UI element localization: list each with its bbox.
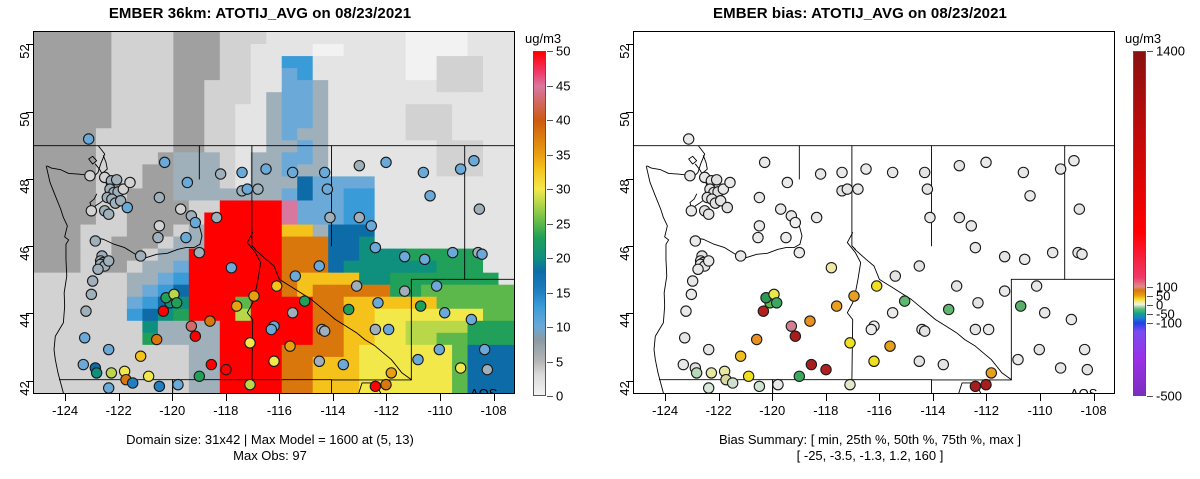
x-tick-label: -118	[213, 403, 238, 418]
grid-cell	[49, 44, 65, 57]
y-tick-label: 50	[617, 112, 632, 126]
monitor-site-marker	[706, 368, 716, 378]
grid-cell	[468, 369, 484, 382]
grid-cell	[452, 128, 468, 141]
monitor-site-marker	[885, 341, 895, 351]
grid-cell	[452, 92, 468, 105]
grid-cell	[266, 92, 282, 105]
grid-cell	[390, 188, 406, 201]
grid-cell	[390, 200, 406, 213]
grid-cell	[220, 56, 236, 69]
monitor-site-marker	[890, 271, 900, 281]
x-tick-label: -120	[759, 403, 785, 418]
grid-cell	[220, 140, 236, 153]
grid-cell	[375, 213, 391, 226]
grid-cell	[483, 225, 499, 238]
grid-cell	[80, 104, 96, 117]
grid-cell	[173, 32, 189, 45]
grid-cell	[204, 32, 220, 45]
grid-cell	[127, 44, 143, 57]
grid-cell	[499, 200, 514, 213]
monitor-site-marker	[704, 344, 714, 354]
monitor-site-marker	[735, 351, 745, 361]
grid-cell	[127, 273, 143, 286]
grid-cell	[158, 116, 174, 129]
grid-cell	[204, 345, 220, 358]
grid-cell	[390, 44, 406, 57]
grid-cell	[313, 309, 329, 322]
monitor-site-marker	[951, 281, 961, 291]
grid-cell	[235, 68, 251, 81]
x-tick	[933, 394, 934, 401]
aqs-legend-label-left: AQS	[470, 386, 497, 394]
grid-cell	[359, 44, 375, 57]
monitor-site-marker	[1066, 314, 1076, 324]
grid-cell	[421, 44, 437, 57]
colorbar-tick	[1147, 287, 1153, 288]
grid-cell	[80, 68, 96, 81]
grid-cell	[468, 68, 484, 81]
aqs-legend-label-right: AQS	[1070, 386, 1097, 394]
monitor-site-marker	[373, 298, 383, 308]
grid-cell	[49, 297, 65, 310]
grid-cell	[127, 333, 143, 346]
grid-cell	[127, 128, 143, 141]
grid-cell	[173, 309, 189, 322]
grid-cell	[359, 128, 375, 141]
monitor-site-marker	[135, 251, 145, 261]
colorbar-tick	[1147, 396, 1153, 397]
monitor-site-marker	[182, 177, 192, 187]
grid-cell	[390, 237, 406, 250]
monitor-site-marker	[966, 221, 976, 231]
grid-cell	[452, 140, 468, 153]
monitor-site-marker	[754, 221, 764, 231]
grid-cell	[173, 80, 189, 93]
y-tick-label: 44	[17, 314, 32, 328]
grid-cell	[142, 128, 158, 141]
grid-cell	[204, 285, 220, 298]
grid-cell	[49, 345, 65, 358]
grid-cell	[375, 44, 391, 57]
monitor-site-marker	[837, 167, 847, 177]
grid-cell	[251, 321, 267, 334]
grid-cell	[127, 164, 143, 177]
grid-cell	[359, 333, 375, 346]
grid-cell	[282, 68, 298, 81]
grid-cell	[452, 381, 468, 393]
grid-cell	[375, 56, 391, 69]
grid-cell	[220, 273, 236, 286]
left-colorbar-gradient	[533, 51, 546, 396]
grid-cell	[421, 152, 437, 165]
grid-cell	[390, 213, 406, 226]
grid-cell	[173, 261, 189, 274]
grid-cell	[96, 297, 112, 310]
grid-cell	[468, 357, 484, 370]
grid-cell	[468, 92, 484, 105]
x-tick	[494, 394, 495, 401]
colorbar-tick	[1147, 323, 1153, 324]
x-tick-label: -112	[374, 403, 399, 418]
x-tick	[986, 394, 987, 401]
grid-cell	[204, 297, 220, 310]
grid-cell	[220, 104, 236, 117]
grid-cell	[142, 200, 158, 213]
grid-cell	[34, 152, 50, 165]
grid-cell	[189, 152, 205, 165]
grid-cell	[297, 321, 313, 334]
monitor-site-marker	[290, 271, 300, 281]
grid-cell	[220, 68, 236, 81]
grid-cell	[375, 104, 391, 117]
grid-cell	[127, 68, 143, 81]
x-tick-label: -122	[106, 403, 132, 418]
grid-cell	[235, 128, 251, 141]
monitor-site-marker	[186, 321, 196, 331]
grid-cell	[452, 213, 468, 226]
grid-cell	[483, 213, 499, 226]
grid-cell	[49, 128, 65, 141]
monitor-site-marker	[269, 356, 279, 366]
monitor-site-marker	[351, 281, 361, 291]
grid-cell	[34, 140, 50, 153]
grid-cell	[220, 188, 236, 201]
grid-cell	[499, 104, 514, 117]
monitor-site-marker	[944, 304, 954, 314]
grid-cell	[390, 261, 406, 274]
grid-cell	[204, 237, 220, 250]
monitor-site-marker	[683, 134, 693, 144]
monitor-site-marker	[686, 289, 696, 299]
grid-cell	[297, 116, 313, 129]
grid-cell	[142, 321, 158, 334]
grid-cell	[344, 80, 360, 93]
figure-root: EMBER 36km: ATOTIJ_AVG on 08/23/2021 AQS…	[0, 0, 1200, 479]
grid-cell	[282, 381, 298, 393]
monitor-site-marker	[845, 379, 855, 389]
grid-cell	[359, 200, 375, 213]
monitor-site-marker	[416, 301, 426, 311]
grid-cell	[297, 56, 313, 69]
grid-cell	[468, 285, 484, 298]
grid-cell	[173, 152, 189, 165]
grid-cell	[282, 297, 298, 310]
x-tick	[1040, 394, 1041, 401]
grid-cell	[483, 56, 499, 69]
grid-cell	[142, 297, 158, 310]
grid-cell	[49, 261, 65, 274]
grid-cell	[96, 56, 112, 69]
grid-cell	[421, 68, 437, 81]
grid-cell	[65, 116, 81, 129]
grid-cell	[127, 152, 143, 165]
monitor-site-marker	[322, 184, 332, 194]
monitor-site-marker	[477, 249, 487, 259]
monitor-site-marker	[1018, 167, 1028, 177]
monitor-site-marker	[81, 306, 91, 316]
grid-cell	[49, 237, 65, 250]
grid-cell	[406, 80, 422, 93]
grid-cell	[452, 104, 468, 117]
grid-cell	[406, 116, 422, 129]
monitor-site-marker	[80, 333, 90, 343]
grid-cell	[282, 44, 298, 57]
grid-cell	[158, 357, 174, 370]
grid-cell	[282, 225, 298, 238]
grid-cell	[328, 44, 344, 57]
monitor-site-marker	[861, 164, 871, 174]
grid-cell	[468, 104, 484, 117]
monitor-site-marker	[970, 242, 980, 252]
x-tick-label: -114	[920, 403, 945, 418]
y-tick-label: 42	[617, 381, 632, 395]
grid-cell	[282, 188, 298, 201]
grid-cell	[96, 80, 112, 93]
monitor-site-marker	[728, 378, 738, 388]
grid-cell	[328, 92, 344, 105]
grid-cell	[328, 273, 344, 286]
grid-cell	[142, 261, 158, 274]
grid-cell	[204, 249, 220, 262]
grid-cell	[189, 273, 205, 286]
grid-cell	[34, 369, 50, 382]
grid-cell	[499, 297, 514, 310]
grid-cell	[468, 261, 484, 274]
grid-cell	[468, 32, 484, 45]
monitor-site-marker	[299, 296, 309, 306]
grid-cell	[96, 116, 112, 129]
monitor-site-marker	[399, 286, 409, 296]
grid-cell	[452, 176, 468, 189]
grid-cell	[390, 140, 406, 153]
right-map-plot: AQS	[633, 31, 1115, 394]
colorbar-tick-label: 30	[556, 182, 570, 197]
grid-cell	[297, 249, 313, 262]
grid-cell	[328, 345, 344, 358]
x-tick	[333, 394, 334, 401]
grid-cell	[282, 176, 298, 189]
grid-cell	[437, 237, 453, 250]
grid-cell	[34, 297, 50, 310]
grid-cell	[65, 176, 81, 189]
grid-cell	[235, 140, 251, 153]
grid-cell	[65, 309, 81, 322]
monitor-site-marker	[413, 354, 423, 364]
monitor-site-marker	[205, 316, 215, 326]
grid-cell	[127, 261, 143, 274]
grid-cell	[34, 68, 50, 81]
grid-cell	[452, 261, 468, 274]
grid-cell	[437, 128, 453, 141]
grid-cell	[499, 261, 514, 274]
grid-cell	[437, 381, 453, 393]
grid-cell	[437, 32, 453, 45]
monitor-site-marker	[245, 379, 255, 389]
x-tick-label: -108	[1081, 403, 1107, 418]
grid-cell	[406, 92, 422, 105]
grid-cell	[359, 32, 375, 45]
grid-cell	[96, 285, 112, 298]
grid-cell	[297, 68, 313, 81]
monitor-site-marker	[194, 247, 204, 257]
grid-cell	[452, 44, 468, 57]
grid-cell	[390, 68, 406, 81]
grid-cell	[173, 164, 189, 177]
grid-cell	[142, 92, 158, 105]
grid-cell	[189, 68, 205, 81]
monitor-site-marker	[899, 296, 909, 306]
grid-cell	[158, 128, 174, 141]
grid-cell	[344, 321, 360, 334]
grid-cell	[437, 116, 453, 129]
grid-cell	[220, 225, 236, 238]
x-tick-label: -124	[52, 403, 78, 418]
monitor-site-marker	[1047, 247, 1057, 257]
grid-cell	[173, 104, 189, 117]
grid-cell	[297, 237, 313, 250]
grid-cell	[251, 44, 267, 57]
grid-cell	[483, 140, 499, 153]
grid-cell	[235, 273, 251, 286]
grid-cell	[328, 128, 344, 141]
grid-cell	[328, 32, 344, 45]
x-tick-label: -110	[1027, 403, 1052, 418]
monitor-site-marker	[211, 212, 221, 222]
colorbar-tick	[1147, 305, 1153, 306]
grid-cell	[189, 309, 205, 322]
grid-cell	[359, 357, 375, 370]
grid-cell	[235, 225, 251, 238]
grid-cell	[34, 321, 50, 334]
monitor-site-marker	[938, 359, 948, 369]
x-tick-label: -116	[267, 403, 292, 418]
left-map-plot: AQS	[33, 31, 515, 394]
grid-cell	[34, 273, 50, 286]
grid-cell	[483, 32, 499, 45]
colorbar-tick	[1147, 314, 1153, 315]
grid-cell	[375, 80, 391, 93]
grid-cell	[328, 104, 344, 117]
grid-cell	[421, 200, 437, 213]
grid-cell	[65, 213, 81, 226]
monitor-site-marker	[194, 371, 204, 381]
monitor-site-marker	[869, 356, 879, 366]
grid-cell	[127, 80, 143, 93]
grid-cell	[344, 32, 360, 45]
grid-cell	[96, 321, 112, 334]
monitor-site-marker	[1055, 164, 1065, 174]
grid-cell	[96, 92, 112, 105]
grid-cell	[344, 116, 360, 129]
grid-cell	[65, 68, 81, 81]
grid-cell	[483, 321, 499, 334]
monitor-site-marker	[249, 291, 259, 301]
grid-cell	[359, 116, 375, 129]
grid-cell	[235, 261, 251, 274]
x-tick	[826, 394, 827, 401]
grid-cell	[142, 68, 158, 81]
grid-cell	[282, 32, 298, 45]
grid-cell	[204, 152, 220, 165]
grid-cell	[189, 104, 205, 117]
monitor-site-marker	[1074, 204, 1084, 214]
grid-cell	[49, 68, 65, 81]
monitor-site-marker	[434, 344, 444, 354]
colorbar-tick	[547, 258, 553, 259]
monitor-site-marker	[790, 217, 800, 227]
monitor-site-marker	[153, 232, 163, 242]
monitor-site-marker	[981, 379, 991, 389]
grid-cell	[328, 200, 344, 213]
colorbar-tick	[547, 155, 553, 156]
monitor-site-marker	[455, 164, 465, 174]
monitor-site-marker	[754, 192, 764, 202]
grid-cell	[297, 140, 313, 153]
monitor-site-marker	[685, 171, 695, 181]
grid-cell	[328, 152, 344, 165]
monitor-site-marker	[1082, 364, 1092, 374]
grid-cell	[390, 333, 406, 346]
grid-cell	[421, 176, 437, 189]
grid-cell	[437, 176, 453, 189]
monitor-site-marker	[786, 321, 796, 331]
grid-cell	[437, 261, 453, 274]
grid-cell	[49, 152, 65, 165]
grid-cell	[34, 225, 50, 238]
grid-cell	[344, 92, 360, 105]
colorbar-tick	[547, 51, 553, 52]
grid-cell	[468, 140, 484, 153]
grid-cell	[313, 92, 329, 105]
grid-cell	[499, 92, 514, 105]
grid-cell	[328, 68, 344, 81]
grid-cell	[390, 381, 406, 393]
grid-cell	[34, 309, 50, 322]
x-tick-label: -108	[481, 403, 507, 418]
grid-cell	[313, 140, 329, 153]
monitor-site-marker	[338, 359, 348, 369]
grid-cell	[142, 116, 158, 129]
grid-cell	[266, 56, 282, 69]
grid-cell	[483, 152, 499, 165]
grid-cell	[499, 128, 514, 141]
grid-cell	[220, 249, 236, 262]
grid-cell	[127, 237, 143, 250]
grid-cell	[96, 128, 112, 141]
grid-cell	[189, 80, 205, 93]
grid-cell	[328, 80, 344, 93]
grid-cell	[111, 116, 127, 129]
monitor-site-marker	[104, 256, 114, 266]
grid-cell	[390, 152, 406, 165]
grid-cell	[437, 357, 453, 370]
grid-cell	[49, 188, 65, 201]
grid-cell	[49, 92, 65, 105]
monitor-site-marker	[872, 281, 882, 291]
grid-cell	[49, 273, 65, 286]
grid-cell	[251, 116, 267, 129]
grid-cell	[313, 80, 329, 93]
y-tick-label: 46	[617, 246, 632, 260]
grid-cell	[452, 225, 468, 238]
grid-cell	[266, 152, 282, 165]
grid-cell	[297, 164, 313, 177]
grid-cell	[189, 297, 205, 310]
grid-cell	[251, 225, 267, 238]
y-tick-label: 48	[617, 179, 632, 193]
monitor-site-marker	[1016, 301, 1026, 311]
